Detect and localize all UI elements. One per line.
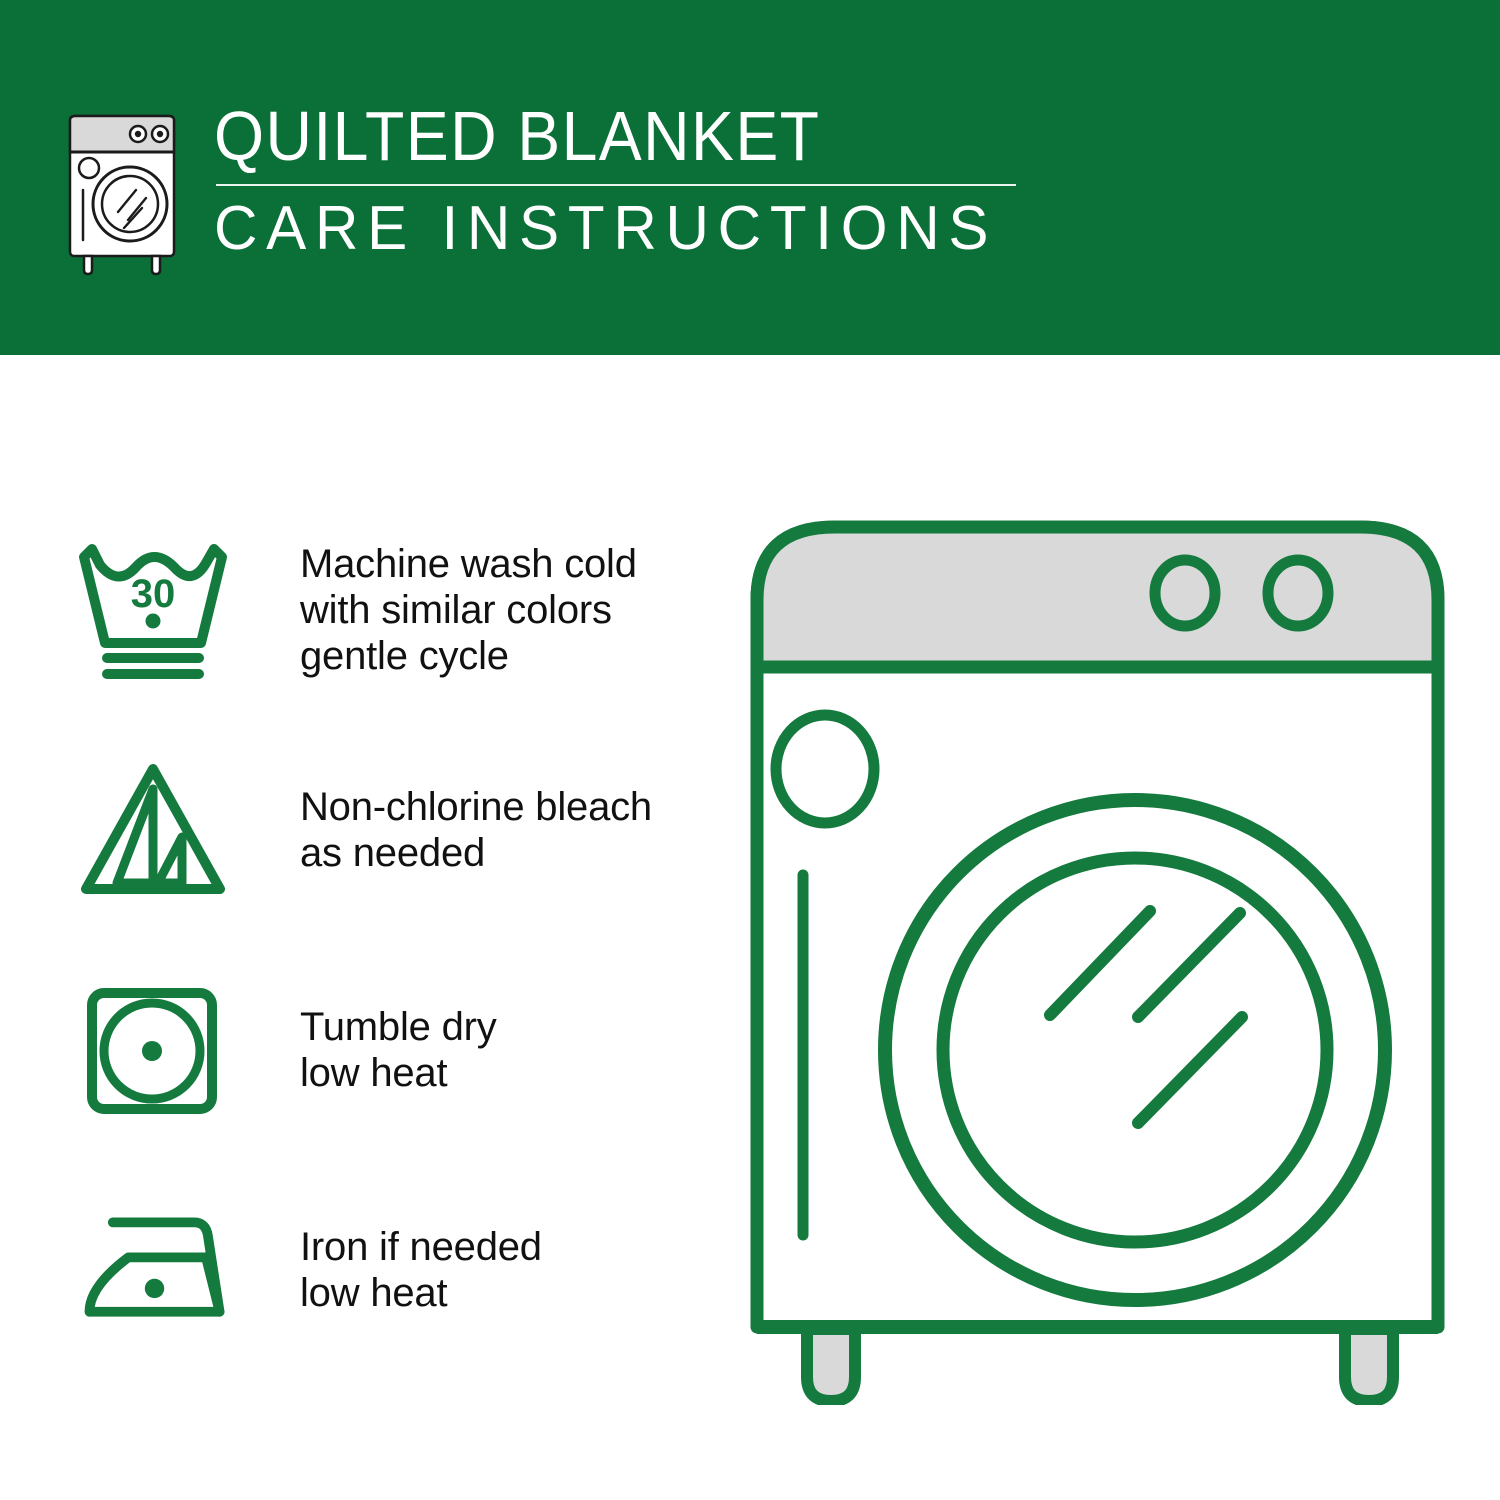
detergent-dispenser-circle[interactable] [776, 715, 874, 823]
washing-machine-icon [62, 106, 192, 278]
care-text-line: low heat [300, 1050, 497, 1096]
care-text-line: low heat [300, 1270, 542, 1316]
care-text-line: Iron if needed [300, 1224, 542, 1270]
title-divider [216, 184, 1016, 186]
care-text-line: with similar colors [300, 587, 637, 633]
care-text-bleach: Non-chlorine bleach as needed [300, 784, 652, 876]
leg-right [1345, 1329, 1393, 1401]
tumble-dry-low-heat-symbol [70, 975, 240, 1125]
front-load-washing-machine-illustration [745, 505, 1450, 1405]
page-subtitle: CARE INSTRUCTIONS [214, 194, 997, 264]
drum-door-inner-ring [943, 858, 1327, 1242]
care-row-tumble-dry: Tumble dry low heat [70, 940, 730, 1160]
iron-low-heat-symbol [70, 1195, 240, 1345]
header-title-group: QUILTED BLANKET CARE INSTRUCTIONS [214, 98, 1021, 264]
care-text-line: Tumble dry [300, 1004, 497, 1050]
knob-left[interactable] [1155, 560, 1215, 626]
page-title: QUILTED BLANKET [214, 98, 957, 174]
care-text-line: gentle cycle [300, 633, 637, 679]
care-text-line: Machine wash cold [300, 541, 637, 587]
knob-right[interactable] [1268, 560, 1328, 626]
header-banner: QUILTED BLANKET CARE INSTRUCTIONS [0, 0, 1500, 355]
care-text-line: as needed [300, 830, 652, 876]
wash-tub-30-gentle-symbol: 30 [70, 535, 240, 685]
leg-left [807, 1329, 855, 1401]
svg-text:30: 30 [131, 572, 176, 616]
non-chlorine-bleach-triangle-symbol [70, 755, 240, 905]
care-text-tumble-dry: Tumble dry low heat [300, 1004, 497, 1096]
care-text-line: Non-chlorine bleach [300, 784, 652, 830]
care-row-wash: 30 Machine wash cold with similar colors… [70, 500, 730, 720]
header-content: QUILTED BLANKET CARE INSTRUCTIONS [62, 98, 1021, 278]
care-text-wash: Machine wash cold with similar colors ge… [300, 541, 637, 679]
care-text-iron: Iron if needed low heat [300, 1224, 542, 1316]
care-row-bleach: Non-chlorine bleach as needed [70, 720, 730, 940]
control-panel [757, 527, 1438, 667]
care-instruction-list: 30 Machine wash cold with similar colors… [70, 500, 730, 1380]
care-row-iron: Iron if needed low heat [70, 1160, 730, 1380]
